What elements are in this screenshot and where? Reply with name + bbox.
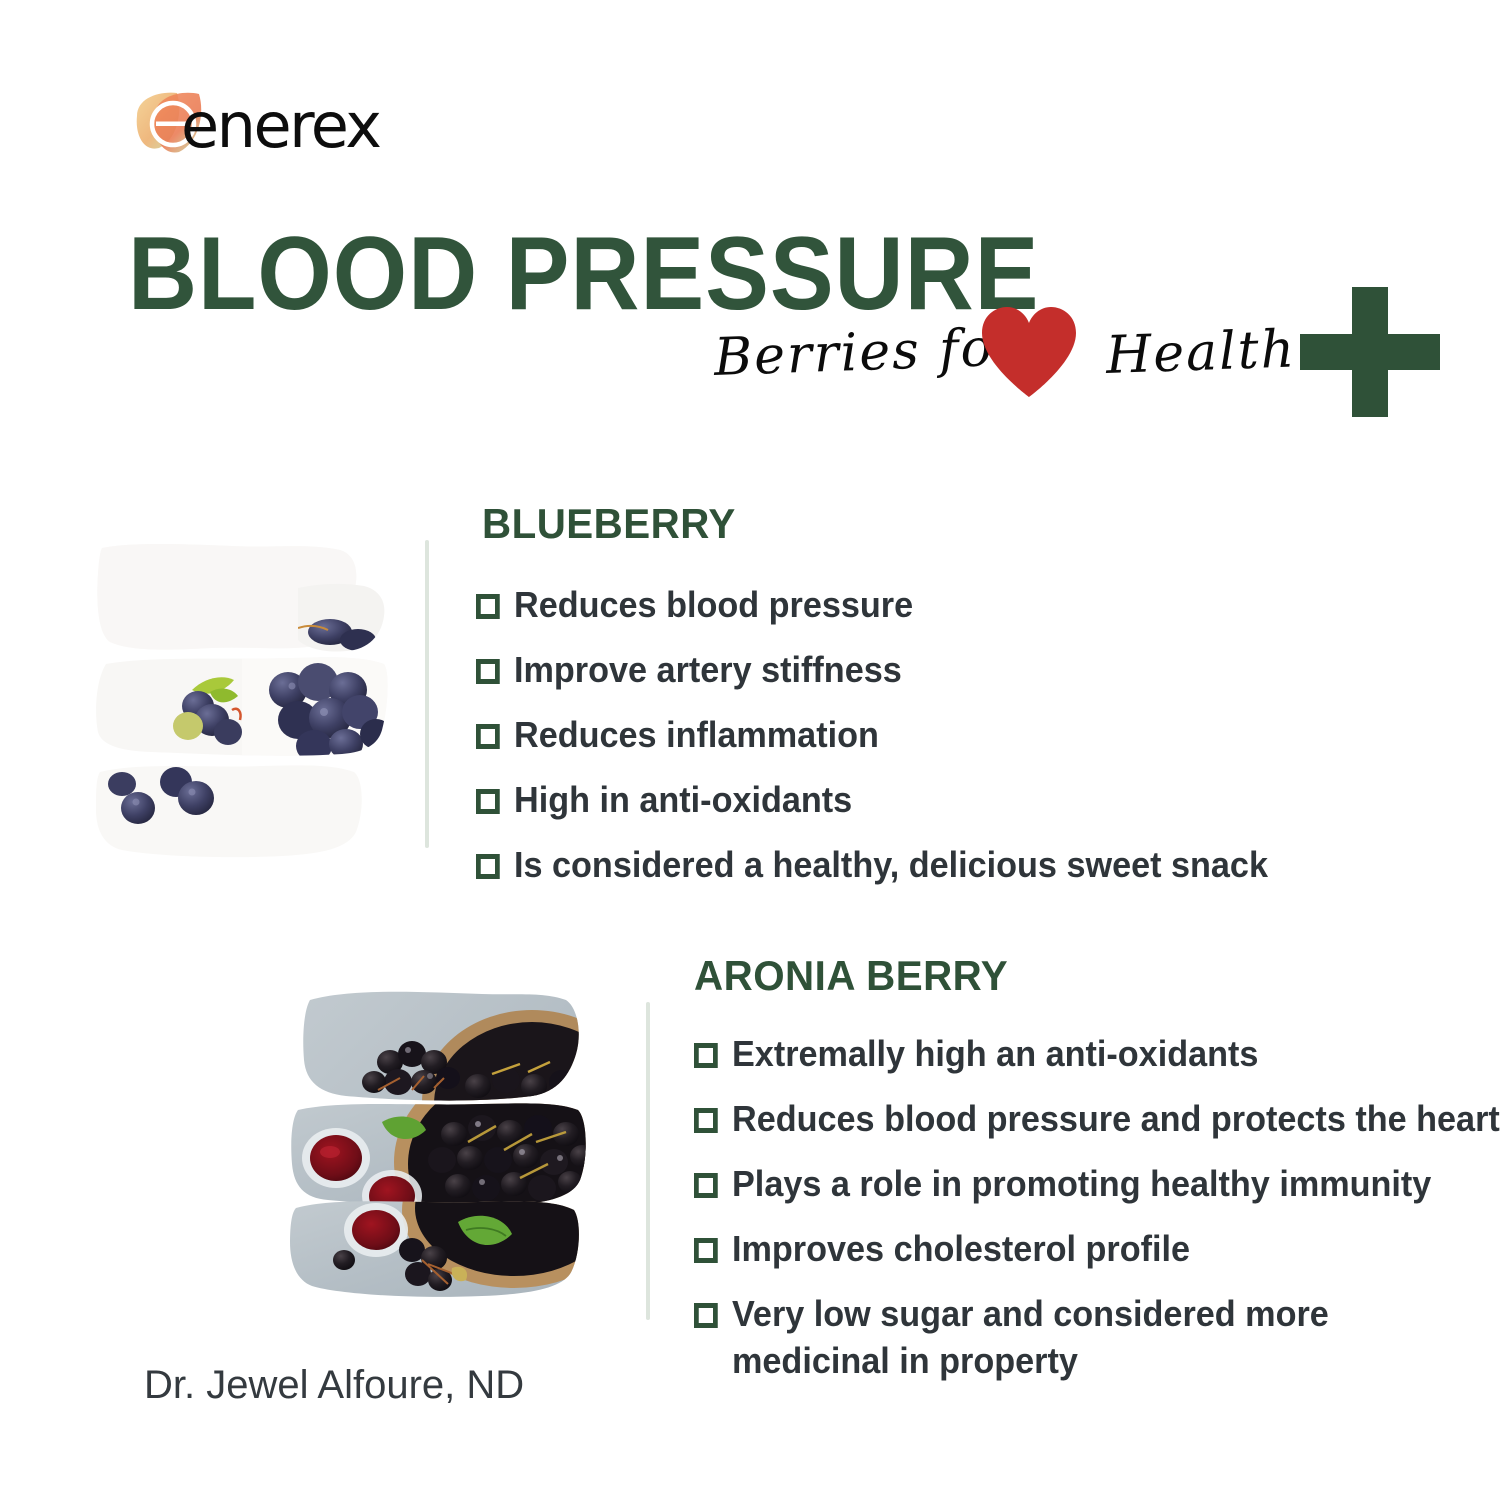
author-credit: Dr. Jewel Alfoure, ND: [144, 1363, 524, 1408]
list-item: Extremally high an anti-oxidants: [694, 1030, 1435, 1077]
section-aronia: ARONIA BERRY Extremally high an anti-oxi…: [0, 0, 1500, 1420]
list-item-label: Improves cholesterol profile: [732, 1228, 1190, 1269]
list-item-label: Reduces blood pressure and protects the …: [732, 1098, 1500, 1139]
bullet-marker-icon: [694, 1108, 718, 1133]
bullet-marker-icon: [694, 1043, 718, 1068]
aronia-heading: ARONIA BERRY: [694, 952, 1008, 1000]
list-item: Very low sugar and considered more medic…: [694, 1290, 1483, 1384]
list-item-label: Plays a role in promoting healthy immuni…: [732, 1163, 1431, 1204]
list-item-label: Very low sugar and considered more medic…: [732, 1293, 1329, 1381]
bullet-marker-icon: [694, 1173, 718, 1198]
bullet-marker-icon: [694, 1238, 718, 1263]
bullet-marker-icon: [694, 1303, 718, 1328]
list-item: Improves cholesterol profile: [694, 1225, 1435, 1272]
aronia-photo: [282, 982, 602, 1302]
aronia-divider: [646, 1002, 650, 1320]
list-item: Reduces blood pressure and protects the …: [694, 1095, 1435, 1142]
aronia-bullet-list: Extremally high an anti-oxidants Reduces…: [694, 1030, 1474, 1384]
list-item: Plays a role in promoting healthy immuni…: [694, 1160, 1435, 1207]
list-item-label: Extremally high an anti-oxidants: [732, 1033, 1258, 1074]
